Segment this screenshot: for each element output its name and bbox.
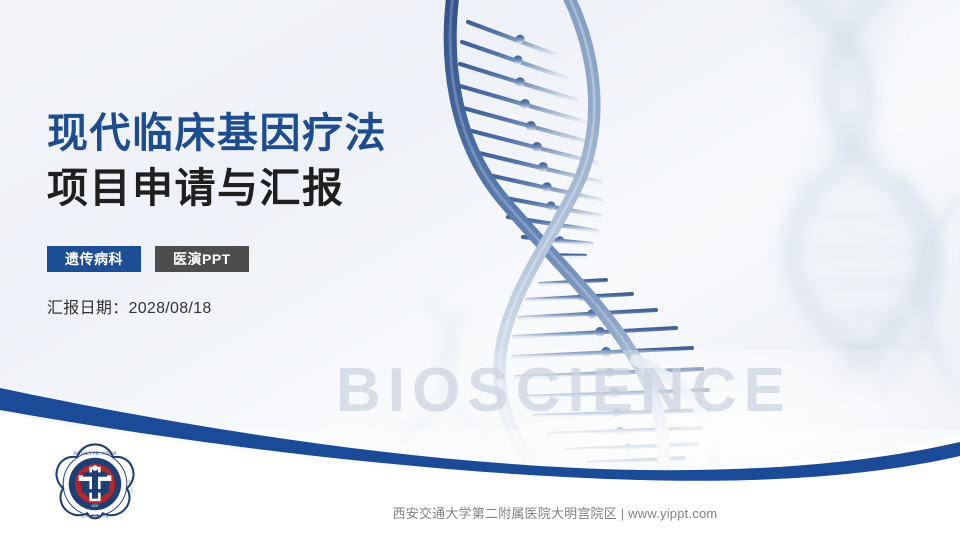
report-date: 汇报日期：2028/08/18 [47, 294, 567, 318]
footer-text: 西安交通大学第二附属医院大明宫院区 | www.yippt.com [0, 503, 960, 522]
page-title-line2: 项目申请与汇报 [47, 161, 567, 216]
badge-department: 遗传病科 [47, 246, 141, 272]
badge-template: 医演PPT [155, 246, 249, 272]
svg-text:西安交通大学第二附属医院: 西安交通大学第二附属医院 [73, 450, 117, 455]
presentation-title-slide: BIOSCIENCE 现代临床基因疗法 项目申请与汇报 遗传病科 医演PPT 汇… [0, 0, 960, 540]
page-title-line1: 现代临床基因疗法 [47, 106, 567, 161]
title-block: 现代临床基因疗法 项目申请与汇报 遗传病科 医演PPT 汇报日期：2028/08… [47, 106, 567, 318]
tag-row: 遗传病科 医演PPT [47, 246, 567, 272]
